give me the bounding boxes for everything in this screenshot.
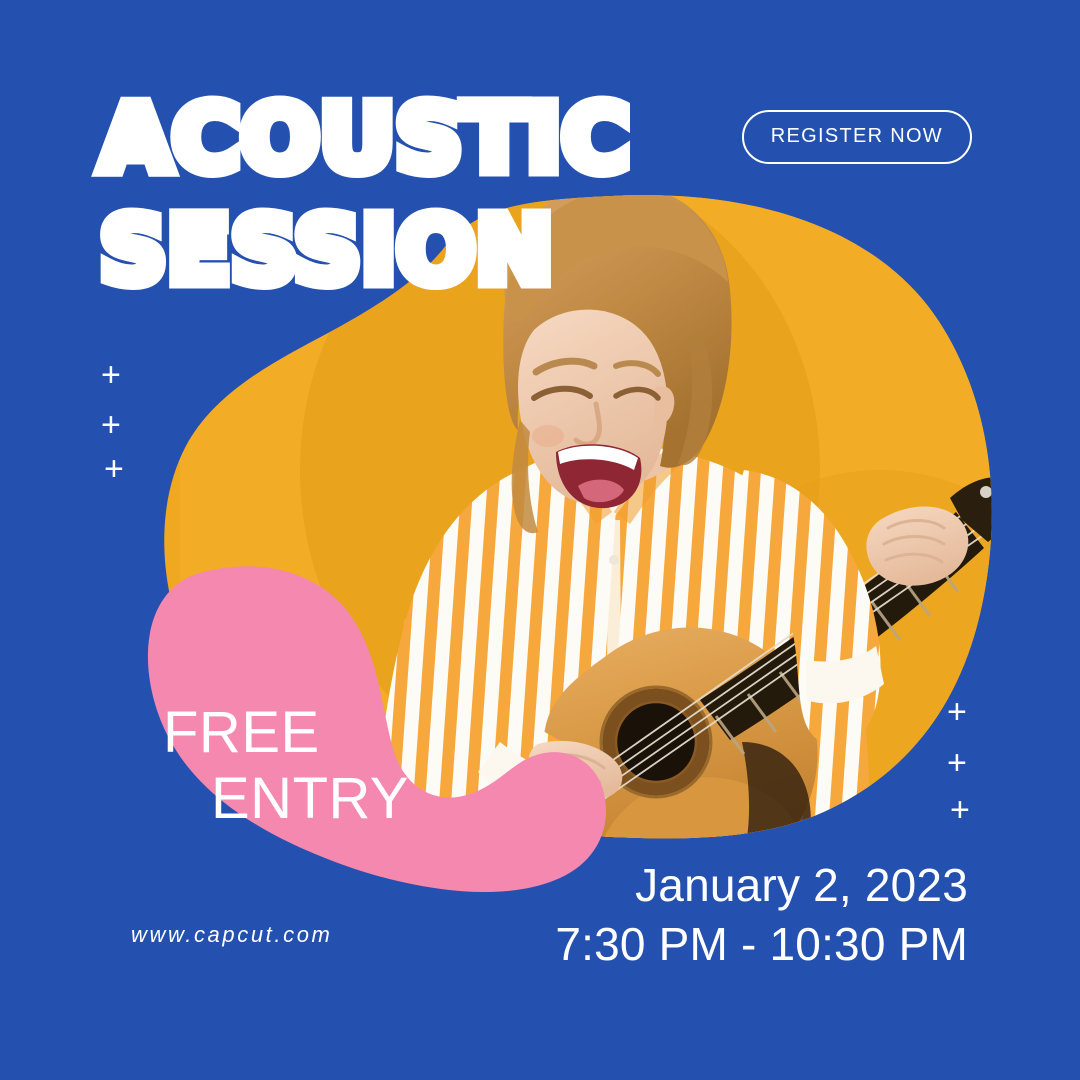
poster-canvas: ACOUSTIC SESSION REGISTER NOW FREE ENTRY… [0,0,1080,1080]
register-now-button[interactable]: REGISTER NOW [742,110,972,164]
